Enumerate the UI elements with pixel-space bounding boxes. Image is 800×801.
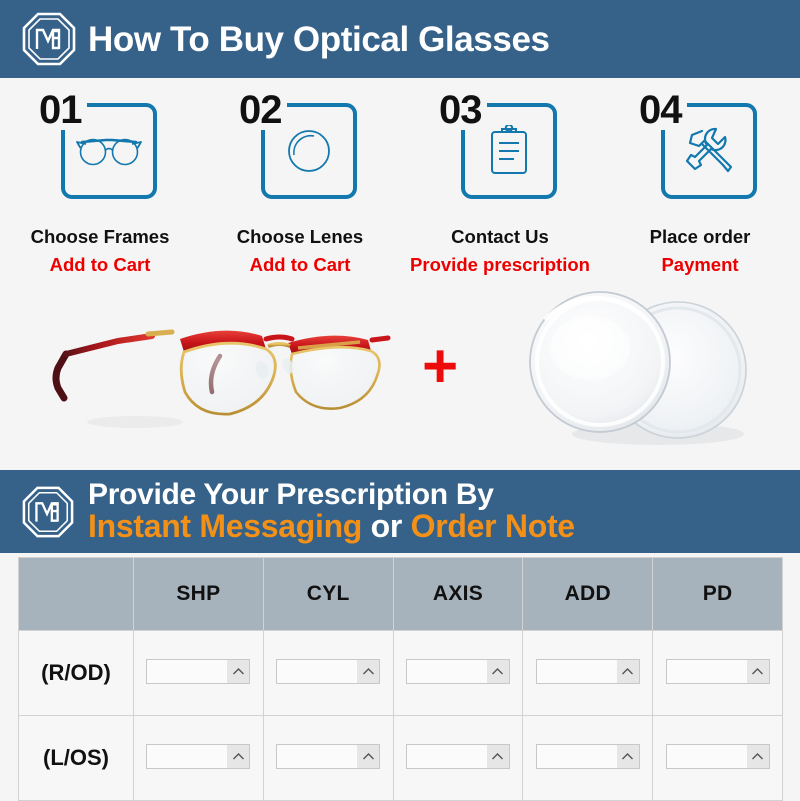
cell-right-axis [393, 631, 523, 716]
step-4-label: Place order [650, 226, 751, 248]
input-left-cyl[interactable] [276, 744, 380, 769]
column-header-pd: PD [653, 558, 783, 631]
step-2-number: 02 [239, 90, 285, 130]
conjunction-text: or [362, 508, 411, 544]
step-2-sublabel: Add to Cart [250, 254, 351, 276]
step-1: 01 Choose Frames [0, 78, 200, 278]
chevron-up-icon[interactable] [617, 745, 639, 768]
chevron-up-icon[interactable] [227, 660, 249, 683]
steps-row: 01 Choose Frames [0, 78, 800, 278]
me-octagon-logo-icon-secondary [22, 486, 74, 538]
cell-left-shp [134, 716, 264, 801]
input-left-cyl-field[interactable] [277, 745, 357, 768]
cell-right-cyl [263, 631, 393, 716]
input-left-pd-field[interactable] [667, 745, 747, 768]
lens-product-image [490, 288, 790, 453]
input-right-add[interactable] [536, 659, 640, 684]
step-1-icon-wrap: 01 [39, 94, 161, 206]
chevron-up-icon[interactable] [617, 660, 639, 683]
input-right-shp[interactable] [146, 659, 250, 684]
table-row: (L/OS) [19, 716, 783, 801]
row-label-right-eye: (R/OD) [19, 631, 134, 716]
table-row: (R/OD) [19, 631, 783, 716]
banner-secondary-line-1: Provide Your Prescription By [88, 480, 575, 511]
step-3-number: 03 [439, 90, 485, 130]
chevron-up-icon[interactable] [357, 660, 379, 683]
cell-left-add [523, 716, 653, 801]
input-right-shp-field[interactable] [147, 660, 227, 683]
input-right-cyl-field[interactable] [277, 660, 357, 683]
infographic-page: How To Buy Optical Glasses 01 [0, 0, 800, 800]
input-right-axis[interactable] [406, 659, 510, 684]
input-left-shp-field[interactable] [147, 745, 227, 768]
chevron-up-icon[interactable] [487, 745, 509, 768]
plus-symbol: + [422, 336, 458, 398]
me-octagon-logo-icon [22, 12, 76, 66]
input-left-shp[interactable] [146, 744, 250, 769]
chevron-up-icon[interactable] [487, 660, 509, 683]
step-4-sublabel: Payment [661, 254, 738, 276]
step-2-icon-wrap: 02 [239, 94, 361, 206]
chevron-up-icon[interactable] [227, 745, 249, 768]
step-1-sublabel: Add to Cart [50, 254, 151, 276]
chevron-up-icon[interactable] [747, 660, 769, 683]
order-note-text: Order Note [411, 508, 575, 544]
banner-secondary-line-2: Instant Messaging or Order Note [88, 510, 575, 543]
prescription-table: SHP CYL AXIS ADD PD (R/OD) [18, 557, 783, 801]
input-right-axis-field[interactable] [407, 660, 487, 683]
input-right-add-field[interactable] [537, 660, 617, 683]
header-banner-primary: How To Buy Optical Glasses [0, 0, 800, 78]
input-right-cyl[interactable] [276, 659, 380, 684]
step-2: 02 Choose Lenes Add to Cart [200, 78, 400, 278]
table-body: (R/OD) [19, 631, 783, 801]
step-3-sublabel: Provide prescription [410, 254, 590, 276]
column-header-add: ADD [523, 558, 653, 631]
input-left-pd[interactable] [666, 744, 770, 769]
eyeglasses-product-image [40, 296, 410, 436]
step-4: 04 Place order Paym [600, 78, 800, 278]
header-banner-secondary: Provide Your Prescription By Instant Mes… [0, 470, 800, 553]
step-1-number: 01 [39, 90, 85, 130]
table-header: SHP CYL AXIS ADD PD [19, 558, 783, 631]
cell-right-add [523, 631, 653, 716]
input-right-pd[interactable] [666, 659, 770, 684]
step-4-icon-wrap: 04 [639, 94, 761, 206]
input-left-add[interactable] [536, 744, 640, 769]
cell-right-pd [653, 631, 783, 716]
input-right-pd-field[interactable] [667, 660, 747, 683]
column-header-axis: AXIS [393, 558, 523, 631]
column-header-cyl: CYL [263, 558, 393, 631]
input-left-add-field[interactable] [537, 745, 617, 768]
step-2-label: Choose Lenes [237, 226, 363, 248]
row-label-left-eye: (L/OS) [19, 716, 134, 801]
input-left-axis-field[interactable] [407, 745, 487, 768]
input-left-axis[interactable] [406, 744, 510, 769]
step-3-label: Contact Us [451, 226, 549, 248]
cell-left-axis [393, 716, 523, 801]
cell-left-pd [653, 716, 783, 801]
table-header-row: SHP CYL AXIS ADD PD [19, 558, 783, 631]
banner-secondary-text: Provide Your Prescription By Instant Mes… [88, 480, 575, 543]
product-showcase: + [0, 282, 800, 470]
instant-messaging-text: Instant Messaging [88, 508, 362, 544]
cell-left-cyl [263, 716, 393, 801]
chevron-up-icon[interactable] [357, 745, 379, 768]
chevron-up-icon[interactable] [747, 745, 769, 768]
column-header-shp: SHP [134, 558, 264, 631]
table-corner-cell [19, 558, 134, 631]
step-4-number: 04 [639, 90, 685, 130]
cell-right-shp [134, 631, 264, 716]
step-3: 03 Contact Us [400, 78, 600, 278]
header-title: How To Buy Optical Glasses [88, 22, 550, 57]
step-3-icon-wrap: 03 [439, 94, 561, 206]
step-1-label: Choose Frames [31, 226, 170, 248]
